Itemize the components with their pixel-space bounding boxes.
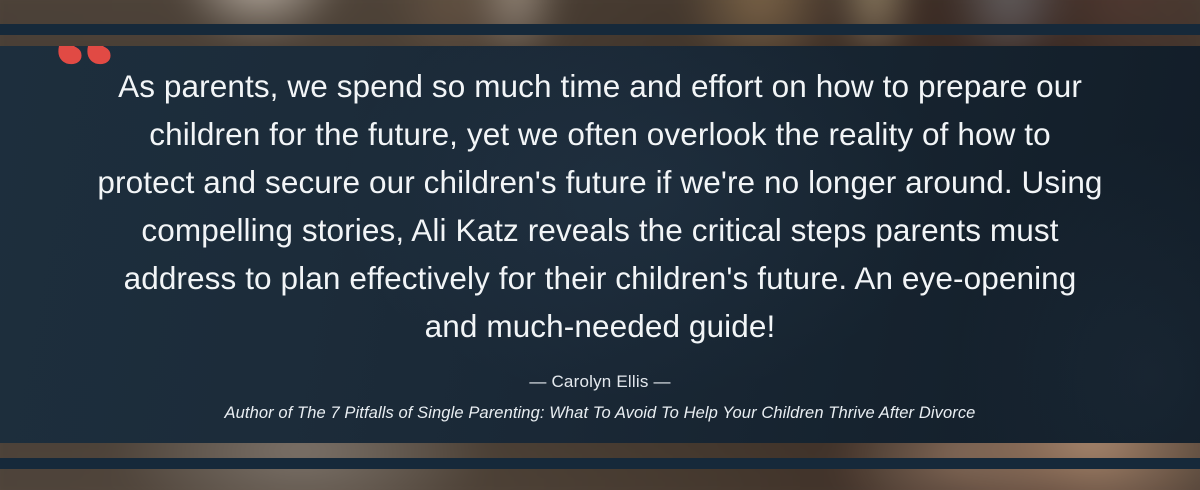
attribution: — Carolyn Ellis — Author of The 7 Pitfal…	[0, 370, 1200, 424]
decorative-rule-bottom	[0, 458, 1200, 469]
quote-text: As parents, we spend so much time and ef…	[0, 46, 1200, 350]
quote-line: address to plan effectively for their ch…	[34, 254, 1166, 302]
testimonial-card: “ As parents, we spend so much time and …	[0, 0, 1200, 490]
attribution-author-name: — Carolyn Ellis —	[0, 370, 1200, 394]
attribution-author-title: Author of The 7 Pitfalls of Single Paren…	[0, 402, 1200, 424]
decorative-rule-top	[0, 24, 1200, 35]
quote-line: and much-needed guide!	[34, 302, 1166, 350]
quote-open-icon: “	[52, 46, 116, 134]
quote-line: compelling stories, Ali Katz reveals the…	[34, 206, 1166, 254]
quote-line: protect and secure our children's future…	[34, 158, 1166, 206]
quote-panel: “ As parents, we spend so much time and …	[0, 46, 1200, 443]
quote-line: As parents, we spend so much time and ef…	[34, 62, 1166, 110]
quote-line: children for the future, yet we often ov…	[34, 110, 1166, 158]
